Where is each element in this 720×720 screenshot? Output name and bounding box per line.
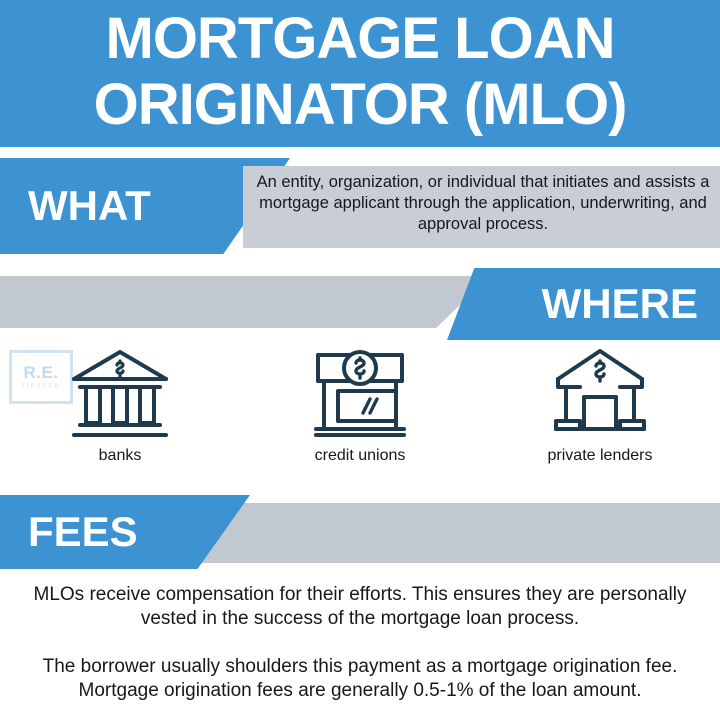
- where-item-credit-unions: credit unions: [240, 345, 480, 490]
- bank-icon: [68, 345, 172, 445]
- page-title: MORTGAGE LOAN ORIGINATOR (MLO): [0, 6, 720, 138]
- where-item-private-lenders: private lenders: [480, 345, 720, 490]
- infographic-root: MORTGAGE LOAN ORIGINATOR (MLO) WHAT An e…: [0, 0, 720, 720]
- where-item-label: private lenders: [548, 447, 653, 465]
- where-gray-bar: [0, 276, 490, 328]
- fees-gray-bar: [160, 503, 720, 563]
- section-label-fees: FEES: [28, 511, 138, 553]
- where-item-banks: banks: [0, 345, 240, 490]
- where-item-label: credit unions: [315, 447, 406, 465]
- section-label-what: WHAT: [28, 185, 151, 227]
- section-banner-where: WHERE: [447, 268, 720, 340]
- fees-paragraph-1: MLOs receive compensation for their effo…: [18, 583, 702, 631]
- fees-paragraph-2: The borrower usually shoulders this paym…: [18, 655, 702, 703]
- title-banner: MORTGAGE LOAN ORIGINATOR (MLO): [0, 0, 720, 147]
- where-icons-row: banks credit unions: [0, 345, 720, 490]
- fees-body: MLOs receive compensation for their effo…: [18, 583, 702, 703]
- section-label-where: WHERE: [542, 283, 698, 325]
- house-icon: [548, 345, 652, 445]
- storefront-icon: [308, 345, 412, 445]
- what-body-text: An entity, organization, or individual t…: [246, 172, 720, 235]
- where-item-label: banks: [99, 447, 142, 465]
